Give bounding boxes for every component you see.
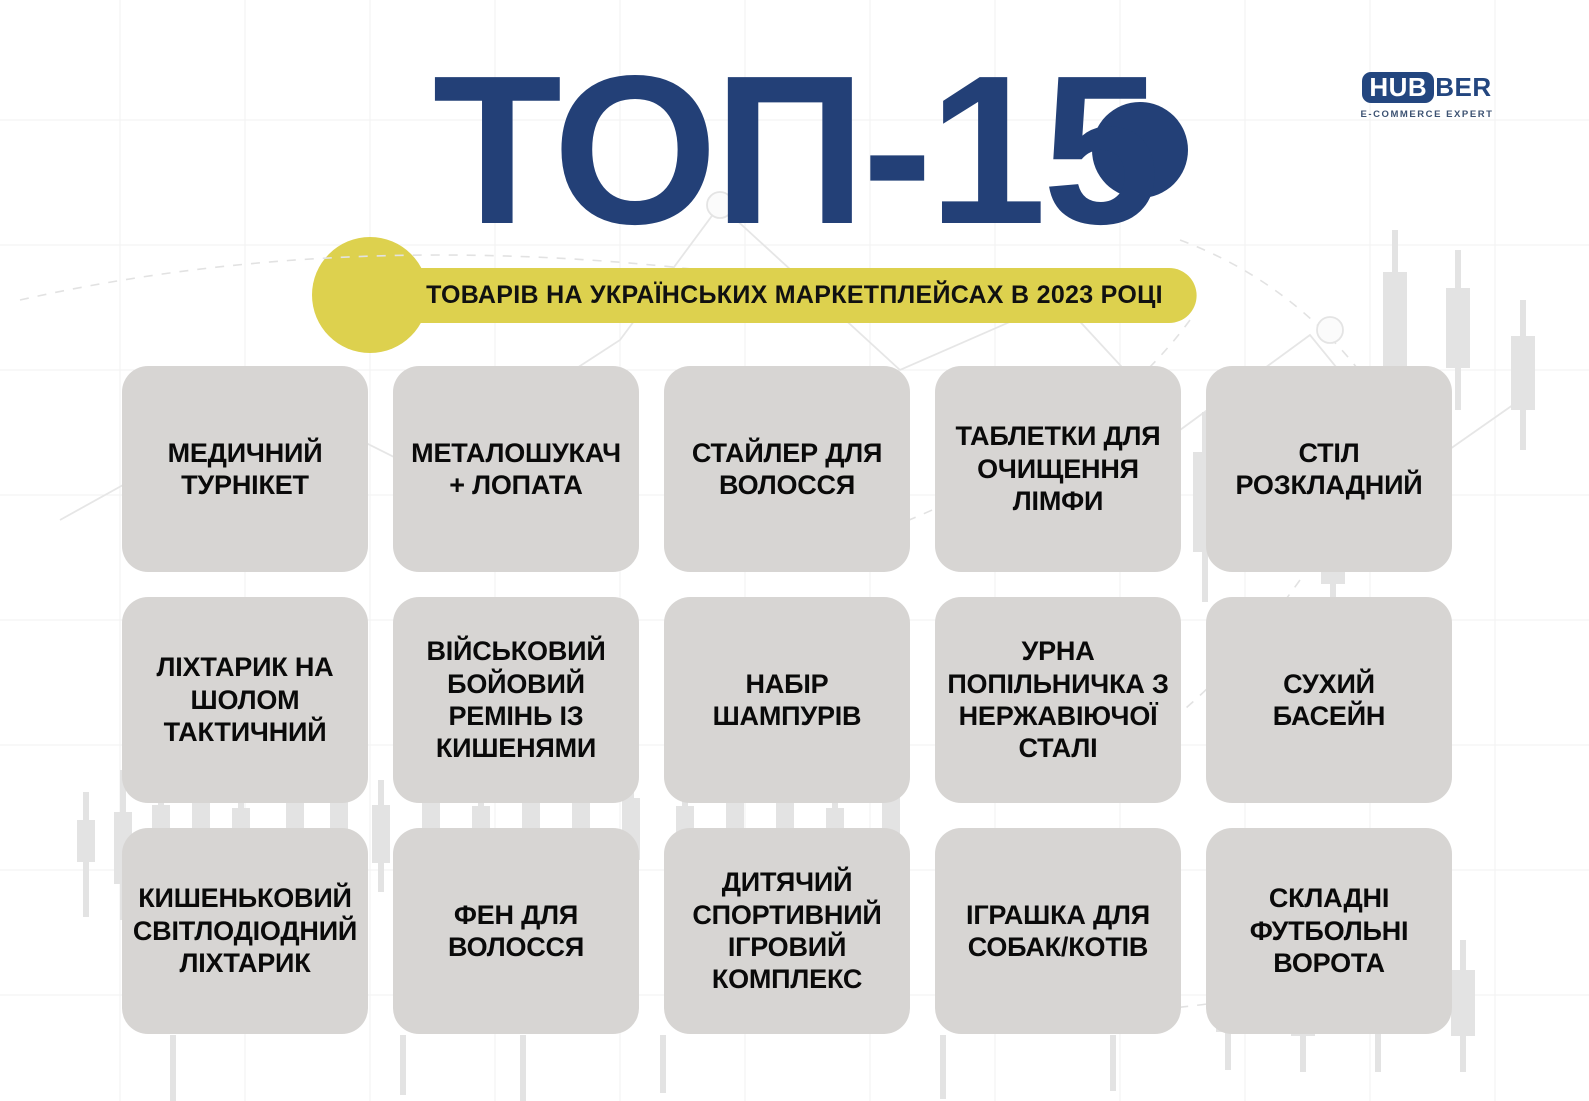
product-card[interactable]: СТІЛ РОЗКЛАДНИЙ: [1206, 366, 1452, 572]
product-cards-grid: МЕДИЧНИЙ ТУРНІКЕТ МЕТАЛОШУКАЧ + ЛОПАТА С…: [122, 366, 1454, 1034]
product-card-label: СУХИЙ БАСЕЙН: [1273, 668, 1385, 733]
product-card-label: УРНА ПОПІЛЬНИЧКА З НЕРЖАВІЮЧОЇ СТАЛІ: [947, 635, 1168, 765]
product-card-label: СКЛАДНІ ФУТБОЛЬНІ ВОРОТА: [1250, 882, 1409, 979]
product-card[interactable]: ТАБЛЕТКИ ДЛЯ ОЧИЩЕННЯ ЛІМФИ: [935, 366, 1181, 572]
subtitle-banner: ТОВАРІВ НА УКРАЇНСЬКИХ МАРКЕТПЛЕЙСАХ В 2…: [392, 268, 1197, 323]
subtitle-text: ТОВАРІВ НА УКРАЇНСЬКИХ МАРКЕТПЛЕЙСАХ В 2…: [426, 281, 1163, 310]
logo-hub-mark: HUB: [1362, 72, 1434, 103]
product-card-label: ДИТЯЧИЙ СПОРТИВНИЙ ІГРОВИЙ КОМПЛЕКС: [692, 866, 881, 996]
infographic-poster: ТОП-15 ТОВАРІВ НА УКРАЇНСЬКИХ МАРКЕТПЛЕЙ…: [0, 0, 1589, 1101]
product-card[interactable]: МЕДИЧНИЙ ТУРНІКЕТ: [122, 366, 368, 572]
product-card[interactable]: СКЛАДНІ ФУТБОЛЬНІ ВОРОТА: [1206, 828, 1452, 1034]
product-card-label: ЛІХТАРИК НА ШОЛОМ ТАКТИЧНИЙ: [157, 651, 334, 748]
product-card-label: СТАЙЛЕР ДЛЯ ВОЛОССЯ: [692, 437, 882, 502]
product-card-label: КИШЕНЬКОВИЙ СВІТЛОДІОДНИЙ ЛІХТАРИК: [133, 882, 357, 979]
product-card[interactable]: НАБІР ШАМПУРІВ: [664, 597, 910, 803]
product-card-label: МЕТАЛОШУКАЧ + ЛОПАТА: [411, 437, 621, 502]
product-card-label: СТІЛ РОЗКЛАДНИЙ: [1235, 437, 1422, 502]
product-card[interactable]: МЕТАЛОШУКАЧ + ЛОПАТА: [393, 366, 639, 572]
logo-tagline: E-COMMERCE EXPERT: [1337, 109, 1517, 120]
product-card[interactable]: ЛІХТАРИК НА ШОЛОМ ТАКТИЧНИЙ: [122, 597, 368, 803]
product-card[interactable]: ДИТЯЧИЙ СПОРТИВНИЙ ІГРОВИЙ КОМПЛЕКС: [664, 828, 910, 1034]
poster-header: ТОП-15 ТОВАРІВ НА УКРАЇНСЬКИХ МАРКЕТПЛЕЙ…: [0, 0, 1589, 350]
product-card[interactable]: СУХИЙ БАСЕЙН: [1206, 597, 1452, 803]
product-card[interactable]: СТАЙЛЕР ДЛЯ ВОЛОССЯ: [664, 366, 910, 572]
logo-wordmark: HUB BER: [1337, 70, 1517, 104]
product-card-label: ІГРАШКА ДЛЯ СОБАК/КОТІВ: [966, 899, 1150, 964]
product-card[interactable]: ВІЙСЬКОВИЙ БОЙОВИЙ РЕМІНЬ ІЗ КИШЕНЯМИ: [393, 597, 639, 803]
product-card-label: НАБІР ШАМПУРІВ: [713, 668, 862, 733]
hubber-logo[interactable]: HUB BER E-COMMERCE EXPERT: [1337, 70, 1517, 120]
product-card-label: МЕДИЧНИЙ ТУРНІКЕТ: [168, 437, 323, 502]
product-card-label: ТАБЛЕТКИ ДЛЯ ОЧИЩЕННЯ ЛІМФИ: [955, 420, 1160, 517]
product-card-label: ВІЙСЬКОВИЙ БОЙОВИЙ РЕМІНЬ ІЗ КИШЕНЯМИ: [426, 635, 605, 765]
product-card[interactable]: ФЕН ДЛЯ ВОЛОССЯ: [393, 828, 639, 1034]
product-card-label: ФЕН ДЛЯ ВОЛОССЯ: [448, 899, 584, 964]
product-card[interactable]: КИШЕНЬКОВИЙ СВІТЛОДІОДНИЙ ЛІХТАРИК: [122, 828, 368, 1034]
product-card[interactable]: ІГРАШКА ДЛЯ СОБАК/КОТІВ: [935, 828, 1181, 1034]
product-card[interactable]: УРНА ПОПІЛЬНИЧКА З НЕРЖАВІЮЧОЇ СТАЛІ: [935, 597, 1181, 803]
logo-ber-text: BER: [1435, 74, 1491, 100]
